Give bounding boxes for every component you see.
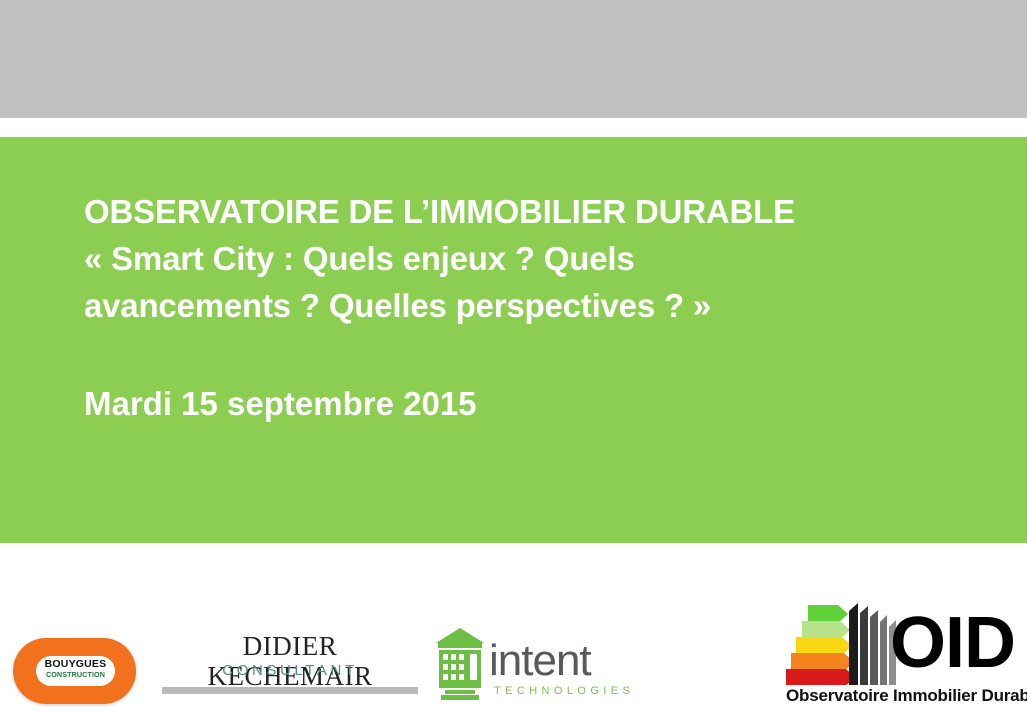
title-green-band: OBSERVATOIRE DE L’IMMOBILIER DURABLE « S… <box>0 137 1027 543</box>
event-date-text: Mardi 15 septembre 2015 <box>84 380 477 427</box>
top-grey-band <box>0 0 1027 118</box>
logo-bouygues-construction: BOUYGUES CONSTRUCTION <box>13 638 136 704</box>
bouygues-subtitle: CONSTRUCTION <box>36 670 115 679</box>
kechemair-divider <box>162 687 418 694</box>
intent-subtitle: TECHNOLOGIES <box>494 685 634 698</box>
oid-wordmark: OID <box>890 603 1015 683</box>
event-date: Mardi 15 septembre 2015 <box>84 380 477 427</box>
kechemair-subtitle: CONSULTANT <box>160 662 420 680</box>
energy-rating-building-icon <box>786 601 896 685</box>
building-icon <box>432 626 488 702</box>
title-line-3: avancements ? Quelles perspectives ? » <box>84 282 964 329</box>
slide-canvas: OBSERVATOIRE DE L’IMMOBILIER DURABLE « S… <box>0 0 1027 715</box>
kechemair-wordmark: DIDIER KECHEMAIR <box>160 631 420 691</box>
logo-intent-technologies: intent TECHNOLOGIES <box>432 626 627 702</box>
title-line-1: OBSERVATOIRE DE L’IMMOBILIER DURABLE <box>84 188 964 235</box>
bouygues-pill: BOUYGUES CONSTRUCTION <box>36 656 115 686</box>
logo-didier-kechemair: DIDIER KECHEMAIR CONSULTANT <box>160 631 420 693</box>
intent-wordmark: intent <box>489 638 591 684</box>
page-title: OBSERVATOIRE DE L’IMMOBILIER DURABLE « S… <box>84 188 964 329</box>
partner-logo-strip: BOUYGUES CONSTRUCTION DIDIER KECHEMAIR C… <box>0 543 1027 715</box>
bouygues-wordmark: BOUYGUES <box>36 659 115 670</box>
logo-oid: OID Observatoire Immobilier Durable <box>786 601 1018 709</box>
title-line-2: « Smart City : Quels enjeux ? Quels <box>84 235 964 282</box>
oid-subtitle: Observatoire Immobilier Durable <box>786 685 1018 706</box>
